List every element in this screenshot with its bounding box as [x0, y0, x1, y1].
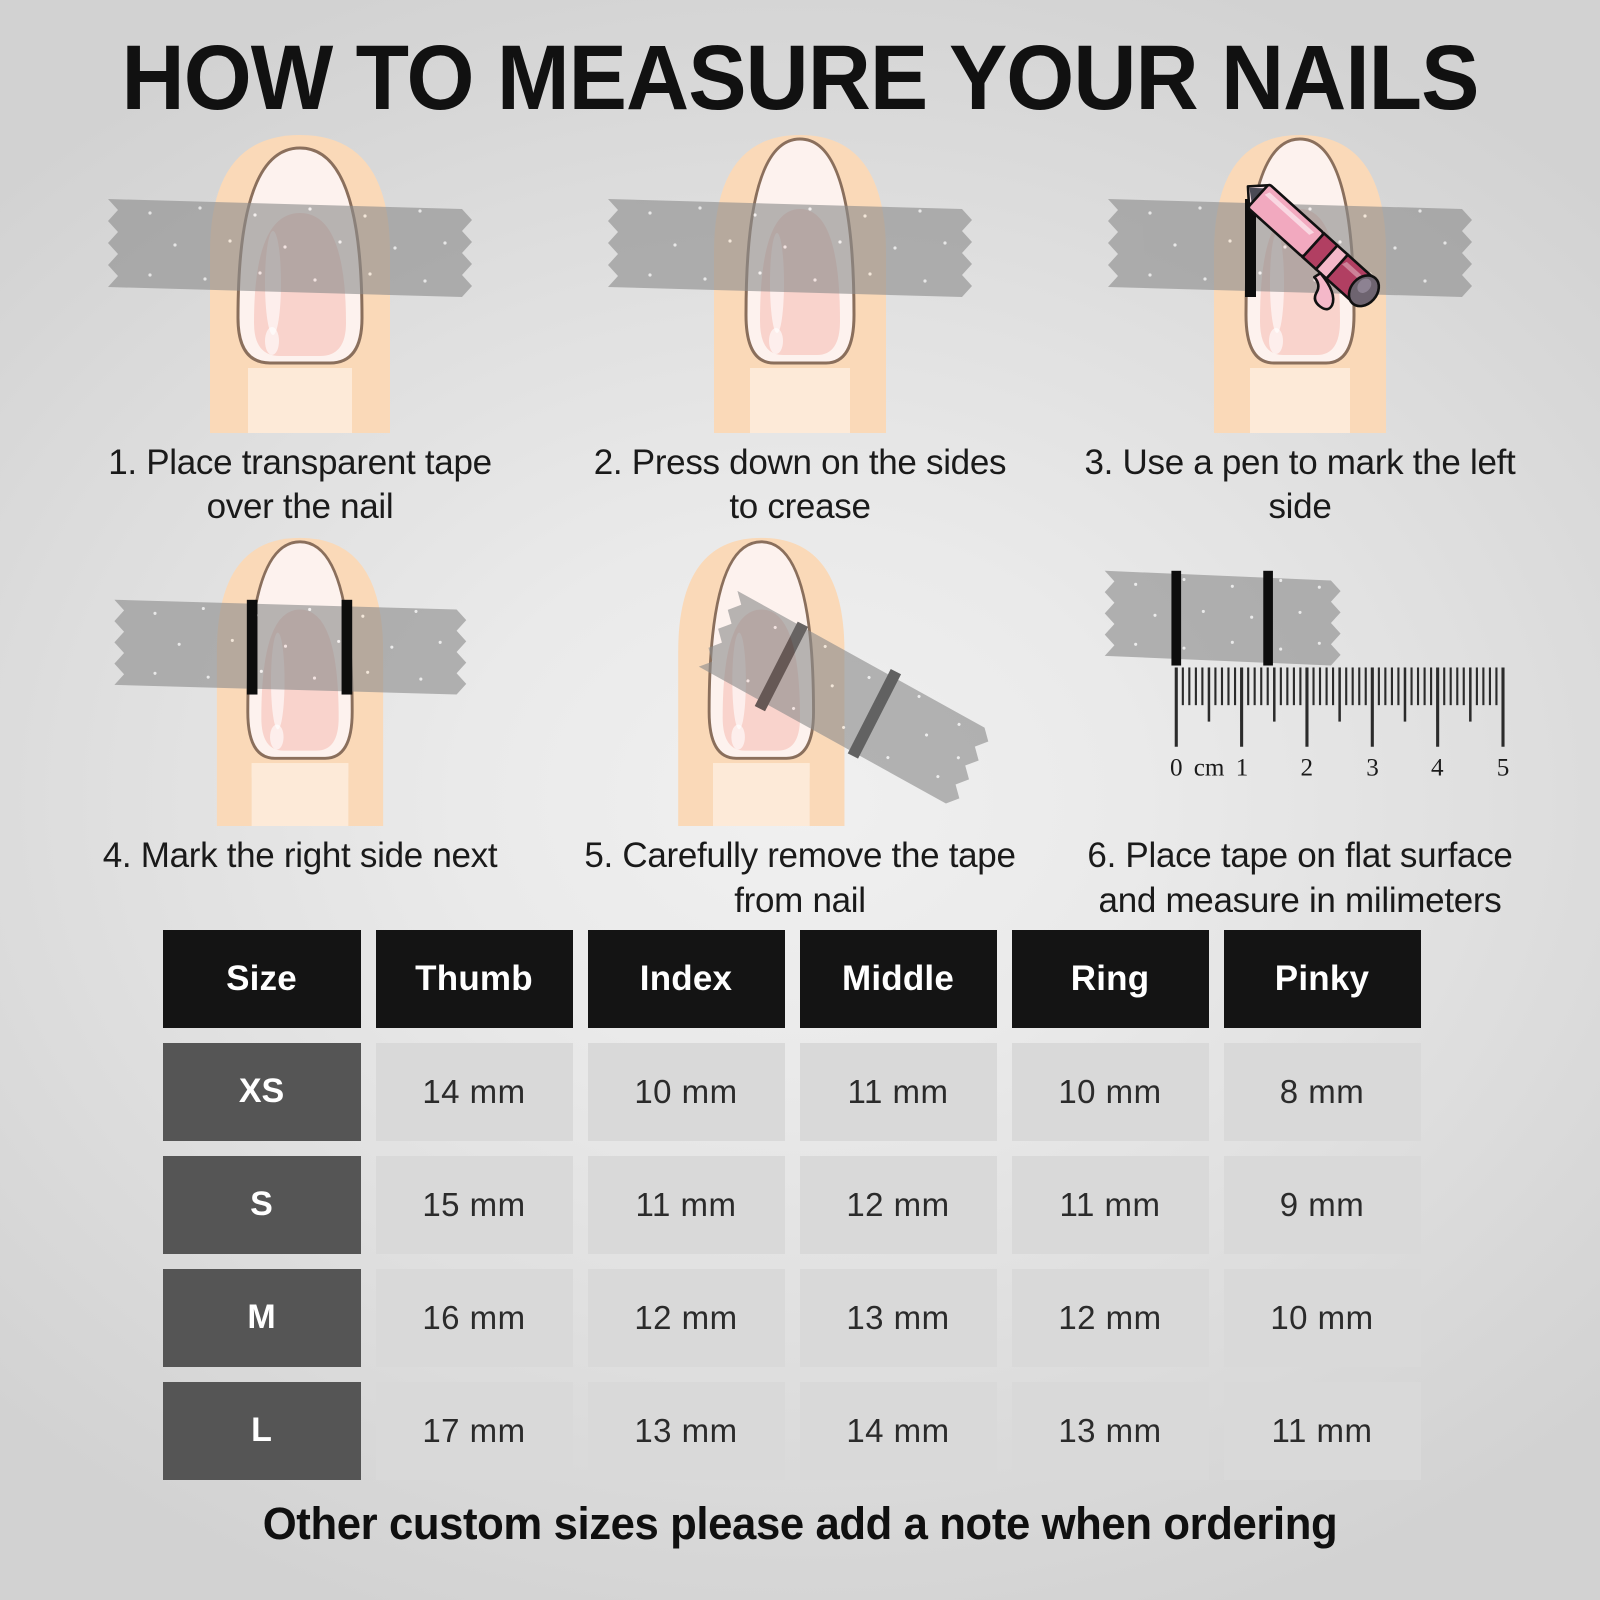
- size-label: S: [163, 1156, 361, 1254]
- ruler-tick-4: 4: [1431, 755, 1444, 782]
- step-4-caption: 4. Mark the right side next: [80, 834, 520, 879]
- ruler-tick-3: 3: [1366, 755, 1379, 782]
- step-1-caption: 1. Place transparent tape over the nail: [80, 441, 520, 531]
- column-header-middle: Middle: [800, 930, 997, 1028]
- table-row: M 16 mm 12 mm 13 mm 12 mm 10 mm: [163, 1269, 1438, 1367]
- cell-thumb: 15 mm: [376, 1156, 573, 1254]
- step-3-caption: 3. Use a pen to mark the left side: [1080, 441, 1520, 531]
- step-6: 0 cm 1 2 3 4 5 6. Place tape on flat sur…: [1050, 536, 1550, 924]
- size-label: L: [163, 1382, 361, 1480]
- cell-pinky: 11 mm: [1224, 1382, 1421, 1480]
- cell-index: 10 mm: [588, 1043, 785, 1141]
- step-4: 4. Mark the right side next: [50, 536, 550, 924]
- cell-pinky: 8 mm: [1224, 1043, 1421, 1141]
- finger-both-marks-graphic: [90, 536, 510, 826]
- column-header-index: Index: [588, 930, 785, 1028]
- tape-strip: [108, 199, 472, 297]
- step-1: 1. Place transparent tape over the nail: [50, 133, 550, 531]
- ruler-tick-0: 0: [1170, 755, 1183, 782]
- cell-thumb: 14 mm: [376, 1043, 573, 1141]
- tape-strip: [608, 199, 972, 297]
- step-3: 3. Use a pen to mark the left side: [1050, 133, 1550, 531]
- column-header-size: Size: [163, 930, 361, 1028]
- left-mark-line: [247, 600, 258, 695]
- left-mark-line: [1171, 571, 1181, 666]
- custom-sizes-note: Other custom sizes please add a note whe…: [24, 1498, 1576, 1550]
- cell-middle: 13 mm: [800, 1269, 997, 1367]
- tape-strip: [1105, 571, 1341, 666]
- table-row: L 17 mm 13 mm 14 mm 13 mm 11 mm: [163, 1382, 1438, 1480]
- column-header-ring: Ring: [1012, 930, 1209, 1028]
- ruler-tick-1: 1: [1236, 755, 1249, 782]
- cell-index: 13 mm: [588, 1382, 785, 1480]
- cell-thumb: 16 mm: [376, 1269, 573, 1367]
- size-chart-table: Size Thumb Index Middle Ring Pinky XS 14…: [163, 930, 1438, 1480]
- cell-ring: 13 mm: [1012, 1382, 1209, 1480]
- cell-middle: 12 mm: [800, 1156, 997, 1254]
- table-row: XS 14 mm 10 mm 11 mm 10 mm 8 mm: [163, 1043, 1438, 1141]
- cell-index: 11 mm: [588, 1156, 785, 1254]
- finger-with-tape-graphic: [90, 133, 510, 433]
- ruler-tick-5: 5: [1497, 755, 1510, 782]
- size-label: M: [163, 1269, 361, 1367]
- step-5-illustration: [550, 536, 1050, 826]
- column-header-thumb: Thumb: [376, 930, 573, 1028]
- steps-row-1: 1. Place transparent tape over the nail: [50, 127, 1550, 531]
- cell-middle: 14 mm: [800, 1382, 997, 1480]
- step-6-caption: 6. Place tape on flat surface and measur…: [1080, 834, 1520, 924]
- step-4-illustration: [50, 536, 550, 826]
- ruler: [1176, 668, 1503, 747]
- cell-pinky: 10 mm: [1224, 1269, 1421, 1367]
- ruler-tick-2: 2: [1300, 755, 1313, 782]
- cell-ring: 12 mm: [1012, 1269, 1209, 1367]
- ruler-unit-label: cm: [1194, 755, 1225, 782]
- tape-strip: [114, 600, 466, 695]
- cell-middle: 11 mm: [800, 1043, 997, 1141]
- tape-on-ruler-graphic: 0 cm 1 2 3 4 5: [1080, 536, 1520, 826]
- finger-pen-left-mark-graphic: [1090, 133, 1510, 433]
- table-row: S 15 mm 11 mm 12 mm 11 mm 9 mm: [163, 1156, 1438, 1254]
- step-2: 2. Press down on the sides to crease: [550, 133, 1050, 531]
- size-label: XS: [163, 1043, 361, 1141]
- page-title: HOW TO MEASURE YOUR NAILS: [40, 0, 1560, 127]
- finger-creased-tape-graphic: [590, 133, 1010, 433]
- step-2-caption: 2. Press down on the sides to crease: [580, 441, 1020, 531]
- right-mark-line: [342, 600, 353, 695]
- step-5: 5. Carefully remove the tape from nail: [550, 536, 1050, 924]
- step-2-illustration: [550, 133, 1050, 433]
- cell-pinky: 9 mm: [1224, 1156, 1421, 1254]
- step-1-illustration: [50, 133, 550, 433]
- step-6-illustration: 0 cm 1 2 3 4 5: [1050, 536, 1550, 826]
- right-mark-line: [1263, 571, 1273, 666]
- table-header-row: Size Thumb Index Middle Ring Pinky: [163, 930, 1438, 1028]
- column-header-pinky: Pinky: [1224, 930, 1421, 1028]
- cell-ring: 10 mm: [1012, 1043, 1209, 1141]
- tape-peeled-off-graphic: [590, 536, 1010, 826]
- ruler-labels: 0 cm 1 2 3 4 5: [1170, 755, 1509, 782]
- steps-row-2: 4. Mark the right side next: [50, 530, 1550, 924]
- cell-thumb: 17 mm: [376, 1382, 573, 1480]
- cell-index: 12 mm: [588, 1269, 785, 1367]
- step-5-caption: 5. Carefully remove the tape from nail: [580, 834, 1020, 924]
- cell-ring: 11 mm: [1012, 1156, 1209, 1254]
- step-3-illustration: [1050, 133, 1550, 433]
